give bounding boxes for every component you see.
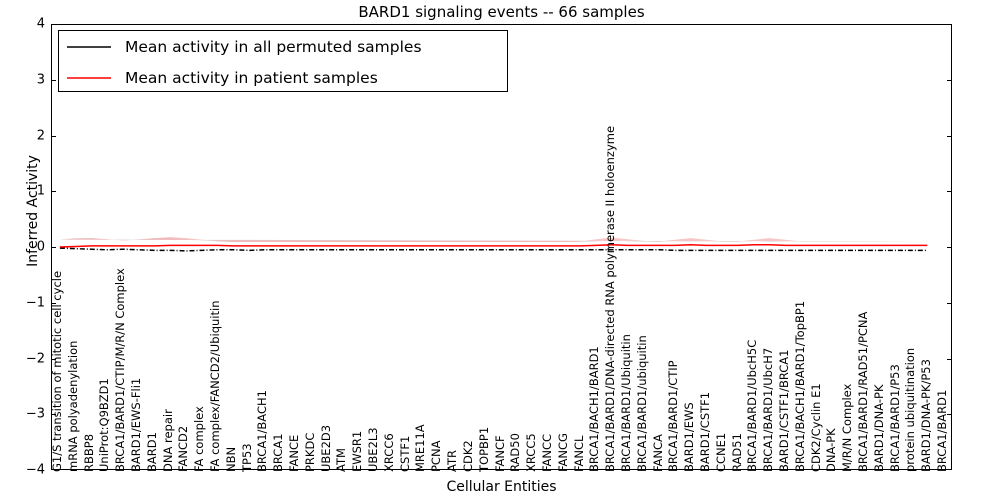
chart-legend: Mean activity in all permuted samples Me… <box>58 30 508 92</box>
x-axis-title: Cellular Entities <box>51 479 952 495</box>
x-axis-tick-label[interactable]: BRCA1/BARD1/ubiquitin <box>637 335 648 472</box>
x-axis-tick-label[interactable]: TP53 <box>242 443 253 472</box>
x-axis-tick-label[interactable]: PCNA <box>431 441 442 472</box>
x-axis-tick-label[interactable]: FANCF <box>495 435 506 472</box>
x-axis-tick-label[interactable]: BRCA1/BARD1/P53 <box>890 364 901 472</box>
x-axis-tick-label[interactable]: BARD1/CSTF1 <box>700 392 711 472</box>
x-axis-tick-label[interactable]: BRCA1/BARD1/DNA-directed RNA polymerase … <box>605 126 616 472</box>
series-confidence-band <box>60 237 927 242</box>
x-axis-tick-label[interactable]: FANCE <box>289 435 300 472</box>
x-axis-tick-label[interactable]: BRCA1/BARD1/CTIP/M/R/N Complex <box>115 268 126 472</box>
y-axis-tick-mark <box>51 303 56 304</box>
y-axis-tick-label: 3 <box>7 72 45 87</box>
legend-line-swatch-patient <box>67 77 111 79</box>
series-line <box>60 248 927 251</box>
y-axis-tick-mark <box>947 136 952 137</box>
x-axis-tick-label[interactable]: RAD50 <box>510 433 521 472</box>
x-axis-tick-label[interactable]: XRCC5 <box>526 433 537 472</box>
y-axis-tick-mark <box>51 414 56 415</box>
x-axis-tick-label[interactable]: CSTF1 <box>400 436 411 472</box>
y-axis-tick-label: 4 <box>7 17 45 32</box>
x-axis-tick-label[interactable]: BARD1/EWS <box>684 402 695 472</box>
y-axis-tick-mark <box>947 80 952 81</box>
y-axis-tick-mark <box>51 136 56 137</box>
x-axis-tick-label[interactable]: BARD1 <box>147 432 158 472</box>
x-axis-tick-label[interactable]: FANCA <box>653 434 664 472</box>
legend-label-patient: Mean activity in patient samples <box>125 69 378 87</box>
legend-entry: Mean activity in patient samples <box>59 62 507 93</box>
x-axis-tick-label[interactable]: BRCA1/BARD1/RAD51/PCNA <box>858 312 869 472</box>
x-axis-tick-label[interactable]: BARD1/CSTF1/BRCA1 <box>779 350 790 472</box>
x-axis-tick-label[interactable]: PRKDC <box>305 433 316 472</box>
x-axis-tick-label[interactable]: CCNE1 <box>716 433 727 472</box>
x-axis-tick-label[interactable]: ATR <box>447 450 458 472</box>
x-axis-tick-label[interactable]: CDK2 <box>463 440 474 472</box>
x-axis-tick-label[interactable]: UBE2L3 <box>368 427 379 472</box>
x-axis-tick-label[interactable]: DNA repair <box>163 409 174 472</box>
y-axis-tick-mark <box>947 191 952 192</box>
x-axis-tick-label[interactable]: BRCA1/BARD1/CTIP <box>668 360 679 472</box>
x-axis-tick-label[interactable]: BRCA1 <box>273 433 284 472</box>
legend-entry: Mean activity in all permuted samples <box>59 31 507 62</box>
x-axis-tick-label[interactable]: FANCD2 <box>178 426 189 472</box>
x-axis-tick-label[interactable]: DNA-PK <box>826 428 837 472</box>
x-axis-tick-label[interactable]: FANCL <box>574 436 585 472</box>
y-axis-tick-mark <box>947 414 952 415</box>
x-axis-tick-label[interactable]: RBBP8 <box>84 434 95 472</box>
x-axis-tick-label[interactable]: FANCG <box>558 433 569 472</box>
x-axis-tick-label[interactable]: UBE2D3 <box>321 425 332 472</box>
y-axis-tick-label: −2 <box>7 351 45 366</box>
y-axis-title: Inferred Activity <box>25 86 41 336</box>
x-axis-tick-label[interactable]: BRCA1/BACH1 <box>257 390 268 472</box>
x-axis-tick-label[interactable]: FA complex/FANCD2/Ubiquitin <box>210 301 221 472</box>
y-axis-tick-label: −4 <box>7 463 45 478</box>
x-axis-tick-label[interactable]: BRCA1/BARD1/UbcH5C <box>747 340 758 472</box>
x-axis-tick-label[interactable]: BRCA1/BACH1/BARD1 <box>589 346 600 472</box>
page-title: BARD1 signaling events -- 66 samples <box>51 2 952 22</box>
x-axis-tick-label[interactable]: BARD1/EWS-Fli1 <box>131 378 142 472</box>
x-axis-tick-label[interactable]: CDK2/Cyclin E1 <box>811 383 822 472</box>
y-axis-tick-label: −3 <box>7 407 45 422</box>
y-axis-tick-mark <box>51 359 56 360</box>
y-axis-tick-mark <box>947 359 952 360</box>
x-axis-tick-label[interactable]: FANCC <box>542 434 553 472</box>
y-axis-tick-mark <box>51 247 56 248</box>
x-axis-tick-label[interactable]: BRCA1/BARD1 <box>937 390 948 472</box>
x-axis-tick-label[interactable]: MRE11A <box>415 424 426 472</box>
y-axis-tick-mark <box>51 191 56 192</box>
x-axis-tick-label[interactable]: TOPBP1 <box>479 427 490 472</box>
y-axis-tick-mark <box>51 80 56 81</box>
x-axis-tick-label[interactable]: RAD51 <box>732 433 743 472</box>
x-axis-tick-label[interactable]: NBN <box>226 447 237 472</box>
x-axis-tick-label[interactable]: G1/S transition of mitotic cell cycle <box>52 271 63 472</box>
x-axis-tick-label[interactable]: BARD1/DNA-PK <box>874 385 885 473</box>
x-axis-tick-label[interactable]: BRCA1/BARD1/Ubiquitin <box>621 334 632 472</box>
x-axis-tick-label[interactable]: XRCC6 <box>384 433 395 472</box>
legend-line-swatch-permuted <box>67 46 111 48</box>
x-axis-tick-label[interactable]: BARD1/DNA-PK/P53 <box>921 359 932 472</box>
x-axis-tick-label[interactable]: UniProt:Q9BZD1 <box>99 378 110 472</box>
x-axis-tick-label[interactable]: M/R/N Complex <box>842 384 853 472</box>
x-axis-tick-label[interactable]: BRCA1/BARD1/UbcH7 <box>763 348 774 472</box>
chart-figure: BARD1 signaling events -- 66 samples 432… <box>0 0 1000 500</box>
x-axis-tick-label[interactable]: protein ubiquitination <box>905 348 916 472</box>
x-axis-tick-label[interactable]: mRNA polyadenylation <box>68 341 79 472</box>
series-line <box>60 245 927 247</box>
x-axis-tick-label[interactable]: FA complex <box>194 406 205 472</box>
y-axis-tick-mark <box>947 247 952 248</box>
legend-label-permuted: Mean activity in all permuted samples <box>125 38 422 56</box>
y-axis-tick-mark <box>947 303 952 304</box>
x-axis-tick-label[interactable]: ATM <box>336 448 347 472</box>
x-axis-tick-label[interactable]: BRCA1/BACH1/BARD1/TopBP1 <box>795 301 806 472</box>
x-axis-tick-label[interactable]: EWSR1 <box>352 431 363 472</box>
